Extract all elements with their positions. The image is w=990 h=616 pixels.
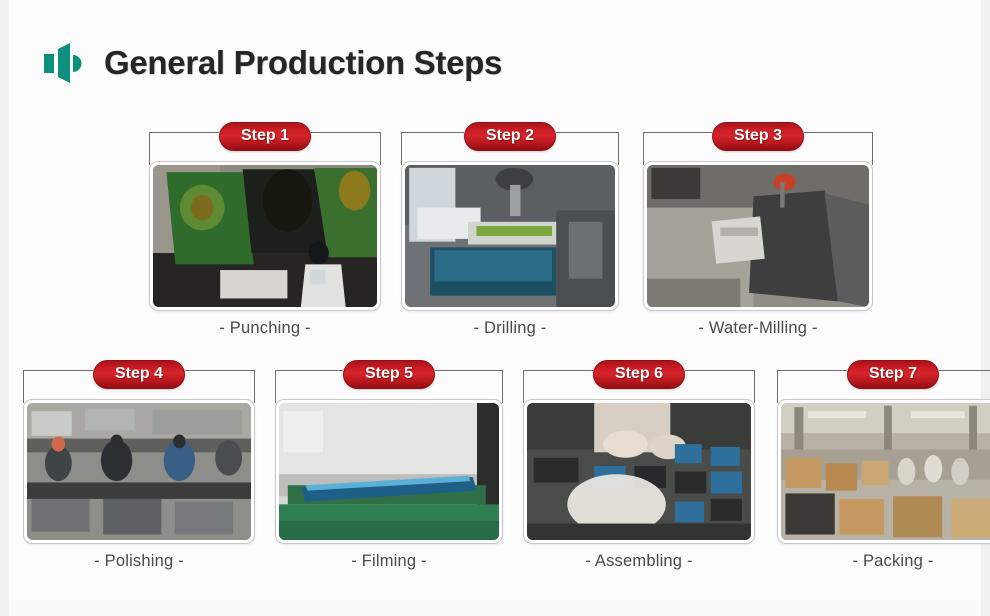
- production-step: Step 5 - Filming -: [275, 360, 503, 571]
- step-caption: - Drilling -: [401, 319, 619, 338]
- step-caption: - Punching -: [149, 319, 381, 338]
- step-badge-wrap: Step 1: [149, 122, 381, 152]
- step-badge[interactable]: Step 2: [464, 122, 556, 151]
- steps-row-1: Step 1 - Punching -Step 2: [149, 122, 873, 338]
- production-step: Step 1 - Punching -: [149, 122, 381, 338]
- step-badge[interactable]: Step 4: [93, 360, 185, 389]
- step-badge-wrap: Step 5: [275, 360, 503, 390]
- step-badge[interactable]: Step 3: [712, 122, 804, 151]
- slide-header: General Production Steps: [43, 42, 502, 84]
- step-badge[interactable]: Step 6: [593, 360, 685, 389]
- production-step: Step 7 -: [777, 360, 990, 571]
- step-caption: - Polishing -: [23, 552, 255, 571]
- slide-canvas: General Production Steps Step 1 - P: [9, 0, 981, 600]
- left-gutter: [0, 0, 9, 616]
- photo-assembling: [527, 403, 751, 540]
- page-title: General Production Steps: [104, 44, 502, 82]
- photo-packing: [781, 403, 990, 540]
- step-badge-wrap: Step 4: [23, 360, 255, 390]
- step-image-frame[interactable]: [149, 161, 381, 311]
- photo-drilling: [405, 165, 615, 307]
- step-caption: - Assembling -: [523, 552, 755, 571]
- production-step: Step 4 - Polishing: [23, 360, 255, 571]
- step-image-frame[interactable]: [275, 399, 503, 544]
- step-badge[interactable]: Step 5: [343, 360, 435, 389]
- production-step: Step 3 - Water-Milling -: [643, 122, 873, 338]
- steps-row-2: Step 4 - Polishing: [23, 360, 990, 571]
- step-badge[interactable]: Step 7: [847, 360, 939, 389]
- slide-page: General Production Steps Step 1 - P: [0, 0, 990, 616]
- step-image-frame[interactable]: [643, 161, 873, 311]
- step-caption: - Packing -: [777, 552, 990, 571]
- step-image-frame[interactable]: [777, 399, 990, 544]
- step-caption: - Filming -: [275, 552, 503, 571]
- step-badge-wrap: Step 6: [523, 360, 755, 390]
- step-badge-wrap: Step 2: [401, 122, 619, 152]
- production-step: Step 2 - Drilling -: [401, 122, 619, 338]
- step-caption: - Water-Milling -: [643, 319, 873, 338]
- photo-punching: [153, 165, 377, 307]
- step-image-frame[interactable]: [523, 399, 755, 544]
- photo-filming: [279, 403, 499, 540]
- speaker-icon: [43, 42, 87, 84]
- photo-polishing: [27, 403, 251, 540]
- step-image-frame[interactable]: [23, 399, 255, 544]
- photo-water-milling: [647, 165, 869, 307]
- step-image-frame[interactable]: [401, 161, 619, 311]
- production-step: Step 6 - Assembling -: [523, 360, 755, 571]
- step-badge-wrap: Step 3: [643, 122, 873, 152]
- step-badge-wrap: Step 7: [777, 360, 990, 390]
- step-badge[interactable]: Step 1: [219, 122, 311, 151]
